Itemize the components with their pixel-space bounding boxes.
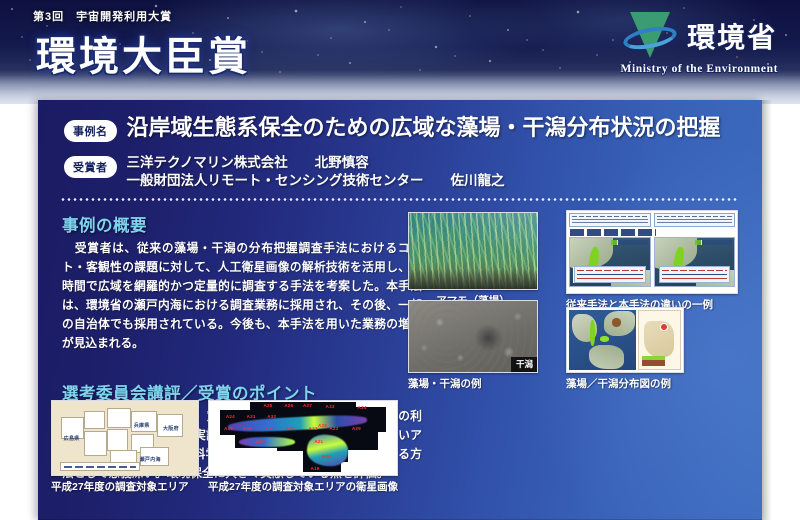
section-overview-body: 受賞者は、従来の藻場・干潟の分布把握調査手法におけるコスト・客観性の課題に対して… (62, 240, 422, 354)
mudflat-caption: 藻場・干潟の例 (408, 376, 538, 391)
sat-sea-band-3 (239, 437, 295, 447)
survey-area-satellite: A25 A26 A27 A33 A34 A24 A31 A32 A28 A30 … (208, 400, 398, 476)
area-label-2: 兵庫県 (134, 422, 150, 429)
area-legend-key (60, 462, 140, 471)
pane-legend (611, 240, 648, 245)
sat-label-a38: A38 (286, 426, 295, 431)
eelgrass-seafloor (409, 269, 537, 289)
distribution-map-content (567, 308, 683, 372)
comparison-header-right (654, 213, 736, 227)
winner-line-1: 三洋テクノマリン株式会社 北野慎容 (127, 154, 505, 172)
section-overview-heading: 事例の概要 (62, 212, 422, 236)
comparison-diagram-content (567, 211, 737, 293)
case-title: 沿岸域生態系保全のための広域な藻場・干潟分布状況の把握 (127, 117, 721, 139)
content-panel: 事例名 沿岸域生態系保全のための広域な藻場・干潟分布状況の把握 受賞者 三洋テク… (38, 100, 762, 520)
pane2-legend (695, 240, 732, 245)
sat-label-a31: A31 (247, 414, 256, 419)
dist-island-c (589, 345, 624, 369)
sat-label-a35: A35 (224, 426, 233, 431)
case-name-row: 事例名 沿岸域生態系保全のための広域な藻場・干潟分布状況の把握 (64, 120, 721, 142)
sat-label-a33: A33 (326, 404, 335, 409)
dist-seagrass-b (600, 336, 609, 341)
distribution-locator-inset (638, 310, 681, 370)
figure-survey-satellite: A25 A26 A27 A33 A34 A24 A31 A32 A28 A30 … (208, 400, 398, 494)
pane-annotation-box (574, 266, 646, 283)
sat-label-a20: A20 (322, 454, 331, 459)
figure-mudflat: 干潟 藻場・干潟の例 (408, 300, 538, 391)
area-label-3: 大阪府 (163, 425, 179, 432)
sat-label-a23: A23 (329, 426, 338, 431)
area-label-4: 瀬戸内海 (140, 456, 161, 463)
survey-satellite-caption: 平成27年度の調査対象エリアの衛星画像 (208, 479, 398, 494)
sat-label-a19: A19 (311, 466, 320, 471)
winner-names: 三洋テクノマリン株式会社 北野慎容 一般財団法人リモート・センシング技術センター… (127, 154, 505, 190)
ministry-logo: 環境省 Ministry of the Environment (621, 10, 779, 75)
comparison-header-boxes (569, 213, 735, 227)
edition-label: 第3回 宇宙開発利用大賞 (33, 8, 172, 24)
comparison-header-left (569, 213, 651, 227)
award-title: 環境大臣賞 (36, 24, 251, 82)
dist-seagrass-a (590, 320, 595, 346)
area-label-1: 広島県 (64, 435, 80, 442)
sat-label-a24: A24 (226, 414, 235, 419)
winner-row: 受賞者 三洋テクノマリン株式会社 北野慎容 一般財団法人リモート・センシング技術… (64, 156, 505, 190)
locator-legend (642, 356, 666, 365)
survey-area-caption: 平成27年度の調査対象エリア (51, 479, 199, 494)
winner-line-2: 一般財団法人リモート・センシング技術センター 佐川龍之 (127, 172, 505, 190)
area-region-4 (107, 408, 130, 427)
satellite-mosaic-content: A25 A26 A27 A33 A34 A24 A31 A32 A28 A30 … (209, 401, 397, 475)
sat-label-a30: A30 (256, 439, 265, 444)
area-region-3 (84, 431, 107, 456)
sat-label-a29: A29 (352, 426, 361, 431)
distribution-map-caption: 藻場／干潟分布図の例 (566, 376, 684, 391)
survey-area-content: 広島県 兵庫県 大阪府 瀬戸内海 (52, 401, 198, 475)
figure-method-comparison: 従来手法と本手法の違いの一例 (566, 210, 738, 312)
locator-landmass (644, 321, 674, 357)
eelgrass-photo (408, 212, 538, 290)
comparison-pane-conventional (569, 237, 651, 287)
figure-distribution-map: 藻場／干潟分布図の例 (566, 307, 684, 391)
dotted-divider (60, 198, 738, 201)
panel-right-shadow (762, 100, 772, 520)
distribution-map (566, 307, 684, 373)
sat-label-a21: A21 (314, 439, 323, 444)
comparison-subtitle-bar (570, 229, 656, 236)
area-region-2 (84, 411, 104, 429)
mudflat-photo: 干潟 (408, 300, 538, 373)
comparison-pane-new-method (654, 237, 736, 287)
figure-survey-area: 広島県 兵庫県 大阪府 瀬戸内海 平成27年度の調査対象エリア (51, 400, 199, 494)
sat-label-a34: A34 (358, 405, 367, 410)
mudflat-inline-label: 干潟 (511, 357, 537, 372)
comparison-panes (569, 237, 735, 287)
award-poster: 第3回 宇宙開発利用大賞 環境大臣賞 環境省 Ministry of the E… (0, 0, 800, 520)
dist-mudflat-a (612, 318, 621, 326)
winner-badge: 受賞者 (64, 156, 117, 178)
sat-label-a26: A26 (284, 403, 293, 408)
sat-label-a28: A28 (318, 423, 327, 428)
method-comparison-diagram (566, 210, 738, 294)
pane2-annotation-box (659, 266, 731, 283)
moe-emblem-icon (621, 10, 679, 62)
case-name-badge: 事例名 (64, 120, 117, 142)
survey-area-map: 広島県 兵庫県 大阪府 瀬戸内海 (51, 400, 199, 476)
sat-label-a37: A37 (265, 426, 274, 431)
sat-tile-10 (348, 432, 378, 450)
section-overview: 事例の概要 受賞者は、従来の藻場・干潟の分布把握調査手法におけるコスト・客観性の… (62, 212, 422, 354)
sat-label-a22: A22 (309, 426, 318, 431)
sat-label-a27: A27 (303, 403, 312, 408)
sat-label-a32: A32 (267, 414, 276, 419)
ministry-english: Ministry of the Environment (621, 63, 779, 75)
ministry-kanji: 環境省 (687, 16, 777, 56)
figure-eelgrass: アマモ（藻場） (408, 212, 538, 308)
area-region-5 (107, 429, 127, 451)
sat-label-a25: A25 (264, 403, 273, 408)
distribution-main-map (569, 310, 636, 370)
ministry-logo-row: 環境省 (621, 10, 777, 62)
sat-label-a36: A36 (243, 426, 252, 431)
